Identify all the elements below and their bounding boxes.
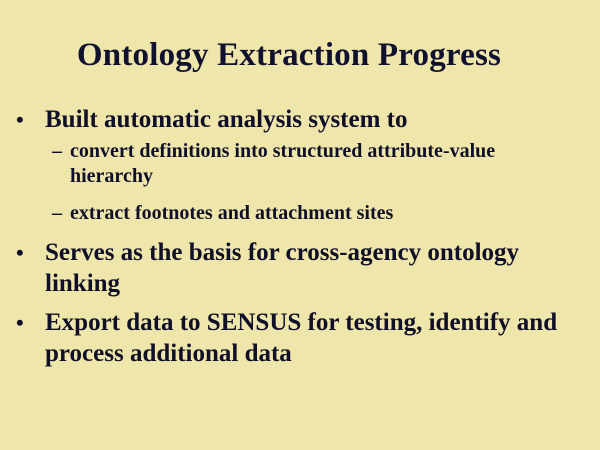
- bullet-item-level1: • Built automatic analysis system to: [0, 104, 600, 135]
- bullet-item-level1: • Serves as the basis for cross-agency o…: [0, 237, 600, 299]
- bullet-dot-icon: •: [16, 104, 45, 135]
- presentation-slide: Ontology Extraction Progress • Built aut…: [0, 0, 600, 450]
- slide-title: Ontology Extraction Progress: [0, 36, 578, 74]
- spacer: [0, 228, 600, 237]
- bullet-dot-icon: •: [16, 307, 45, 338]
- bullet-dot-icon: •: [16, 237, 45, 268]
- bullet-item-level2: – extract footnotes and attachment sites: [0, 201, 600, 226]
- spacer: [0, 191, 600, 197]
- bullet-text: convert definitions into structured attr…: [70, 139, 600, 189]
- bullet-dash-icon: –: [52, 201, 70, 226]
- slide-body-bullet-list: • Built automatic analysis system to – c…: [0, 104, 600, 371]
- bullet-item-level1: • Export data to SENSUS for testing, ide…: [0, 307, 600, 369]
- bullet-dash-icon: –: [52, 139, 70, 164]
- bullet-item-level2: – convert definitions into structured at…: [0, 139, 600, 189]
- bullet-text: Export data to SENSUS for testing, ident…: [45, 307, 600, 369]
- bullet-text: Serves as the basis for cross-agency ont…: [45, 237, 600, 299]
- bullet-text: Built automatic analysis system to: [45, 104, 600, 135]
- bullet-text: extract footnotes and attachment sites: [70, 201, 600, 226]
